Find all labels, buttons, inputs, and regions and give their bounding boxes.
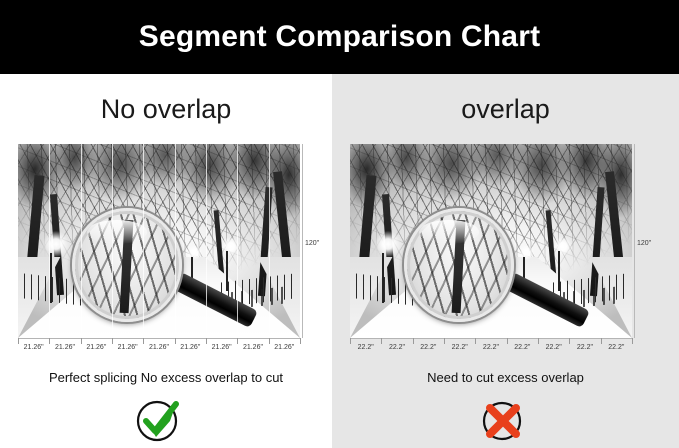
street-lamp-icon <box>187 245 202 260</box>
verdict-check-mark <box>136 399 180 443</box>
height-dimension-line <box>302 144 303 338</box>
street-lamp-icon <box>553 237 572 256</box>
magnifier-icon <box>404 208 514 322</box>
ruler-label: 21.26" <box>175 344 206 351</box>
ruler-label: 22.2" <box>381 344 412 351</box>
caption-no-overlap: Perfect splicing No excess overlap to cu… <box>0 370 332 385</box>
segment-ruler-no-overlap: 21.26"21.26"21.26"21.26"21.26"21.26"21.2… <box>18 338 300 360</box>
ruler-labels: 22.2"22.2"22.2"22.2"22.2"22.2"22.2"22.2"… <box>350 344 632 351</box>
street-lamp-icon <box>221 237 240 256</box>
magnifier-lens <box>404 208 514 322</box>
check-mark-icon <box>136 399 180 443</box>
segment-ruler-overlap: 22.2"22.2"22.2"22.2"22.2"22.2"22.2"22.2"… <box>350 338 632 360</box>
ruler-label: 22.2" <box>569 344 600 351</box>
ruler-label: 21.26" <box>18 344 49 351</box>
ruler-label: 22.2" <box>413 344 444 351</box>
magnifier-glare <box>419 220 479 244</box>
ruler-label: 21.26" <box>143 344 174 351</box>
street-lamp-post <box>558 251 560 292</box>
snowy-park-path-photo <box>350 144 632 338</box>
header-bar: Segment Comparison Chart <box>0 0 679 74</box>
comparison-panels: No overlap <box>0 74 679 448</box>
photo-no-overlap <box>18 144 300 338</box>
ruler-label: 21.26" <box>237 344 268 351</box>
ruler-labels: 21.26"21.26"21.26"21.26"21.26"21.26"21.2… <box>18 344 300 351</box>
ruler-label: 22.2" <box>350 344 381 351</box>
magnifier-icon <box>72 208 182 322</box>
height-label: 120" <box>305 240 319 247</box>
ruler-label: 21.26" <box>81 344 112 351</box>
street-lamp-post <box>382 253 384 303</box>
ruler-label: 21.26" <box>112 344 143 351</box>
ruler-tick <box>300 338 301 344</box>
street-lamp-post <box>226 251 228 292</box>
height-dimension-line <box>634 144 635 338</box>
street-lamp-icon <box>519 245 534 260</box>
caption-overlap: Need to cut excess overlap <box>332 370 679 385</box>
ruler-label: 22.2" <box>601 344 632 351</box>
magnifier-glare <box>87 220 147 244</box>
street-lamp-post <box>50 253 52 303</box>
ruler-label: 22.2" <box>475 344 506 351</box>
cross-mark-icon <box>481 399 525 443</box>
verdict-cross-mark <box>481 399 525 443</box>
panel-no-overlap: No overlap <box>0 74 332 448</box>
snowy-park-path-photo <box>18 144 300 338</box>
ruler-tick <box>632 338 633 344</box>
panel-heading-no-overlap: No overlap <box>0 94 332 125</box>
page-title: Segment Comparison Chart <box>139 20 541 54</box>
ruler-label: 22.2" <box>507 344 538 351</box>
ruler-label: 22.2" <box>444 344 475 351</box>
ruler-label: 21.26" <box>49 344 80 351</box>
magnifier-lens <box>72 208 182 322</box>
photo-overlap <box>350 144 632 338</box>
panel-overlap: overlap <box>332 74 679 448</box>
ruler-label: 21.26" <box>269 344 300 351</box>
ruler-label: 21.26" <box>206 344 237 351</box>
ruler-label: 22.2" <box>538 344 569 351</box>
height-label: 120" <box>637 240 651 247</box>
panel-heading-overlap: overlap <box>332 94 679 125</box>
